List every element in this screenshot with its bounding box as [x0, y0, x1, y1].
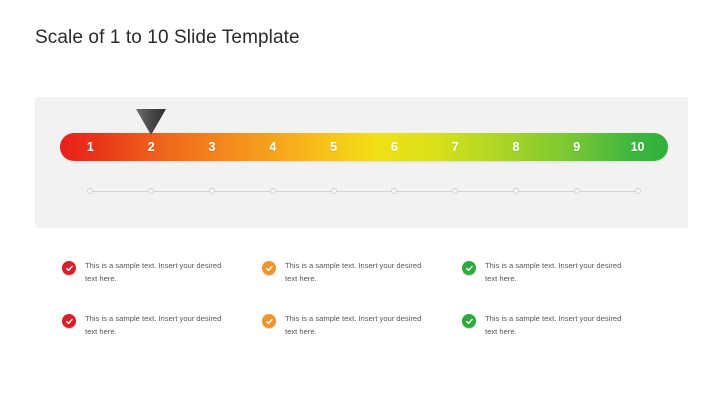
scale-panel: 12345678910 — [35, 97, 688, 228]
scale-number-list: 12345678910 — [60, 133, 668, 161]
list-item: This is a sample text. Insert your desir… — [262, 313, 462, 338]
scale-number-2[interactable]: 2 — [121, 133, 182, 161]
check-circle-icon — [262, 261, 276, 275]
list-item-text: This is a sample text. Insert your desir… — [85, 313, 235, 338]
bullet-grid: This is a sample text. Insert your desir… — [62, 260, 662, 338]
check-circle-icon — [62, 314, 76, 328]
tick-marker-5[interactable] — [303, 185, 364, 197]
scale-number-7[interactable]: 7 — [425, 133, 486, 161]
list-item: This is a sample text. Insert your desir… — [462, 260, 662, 285]
list-item-text: This is a sample text. Insert your desir… — [485, 313, 635, 338]
list-item: This is a sample text. Insert your desir… — [62, 260, 262, 285]
list-item: This is a sample text. Insert your desir… — [262, 260, 462, 285]
tick-marker-7[interactable] — [425, 185, 486, 197]
check-circle-icon — [462, 314, 476, 328]
tick-list — [60, 185, 668, 197]
tick-dot-icon — [574, 188, 580, 194]
tick-dot-icon — [391, 188, 397, 194]
tick-dot-icon — [209, 188, 215, 194]
tick-dot-icon — [331, 188, 337, 194]
list-item: This is a sample text. Insert your desir… — [62, 313, 262, 338]
tick-dot-icon — [513, 188, 519, 194]
tick-marker-10[interactable] — [607, 185, 668, 197]
scale-number-5[interactable]: 5 — [303, 133, 364, 161]
triangle-down-pointer-icon[interactable] — [136, 109, 166, 136]
scale-number-4[interactable]: 4 — [242, 133, 303, 161]
scale-number-9[interactable]: 9 — [546, 133, 607, 161]
list-item-text: This is a sample text. Insert your desir… — [485, 260, 635, 285]
scale-number-1[interactable]: 1 — [60, 133, 121, 161]
scale-tick-rail — [60, 185, 668, 197]
scale-bar-wrapper[interactable]: 12345678910 — [60, 133, 668, 161]
list-item-text: This is a sample text. Insert your desir… — [285, 313, 435, 338]
scale-number-6[interactable]: 6 — [364, 133, 425, 161]
tick-marker-6[interactable] — [364, 185, 425, 197]
page-title: Scale of 1 to 10 Slide Template — [35, 27, 300, 49]
check-circle-icon — [262, 314, 276, 328]
tick-dot-icon — [270, 188, 276, 194]
tick-marker-3[interactable] — [182, 185, 243, 197]
list-item-text: This is a sample text. Insert your desir… — [285, 260, 435, 285]
scale-number-3[interactable]: 3 — [182, 133, 243, 161]
tick-marker-8[interactable] — [486, 185, 547, 197]
tick-dot-icon — [452, 188, 458, 194]
tick-marker-1[interactable] — [60, 185, 121, 197]
check-circle-icon — [462, 261, 476, 275]
tick-marker-4[interactable] — [242, 185, 303, 197]
list-item-text: This is a sample text. Insert your desir… — [85, 260, 235, 285]
tick-dot-icon — [635, 188, 641, 194]
tick-dot-icon — [148, 188, 154, 194]
tick-marker-2[interactable] — [121, 185, 182, 197]
check-circle-icon — [62, 261, 76, 275]
list-item: This is a sample text. Insert your desir… — [462, 313, 662, 338]
scale-number-10[interactable]: 10 — [607, 133, 668, 161]
tick-dot-icon — [87, 188, 93, 194]
tick-marker-9[interactable] — [546, 185, 607, 197]
scale-number-8[interactable]: 8 — [486, 133, 547, 161]
